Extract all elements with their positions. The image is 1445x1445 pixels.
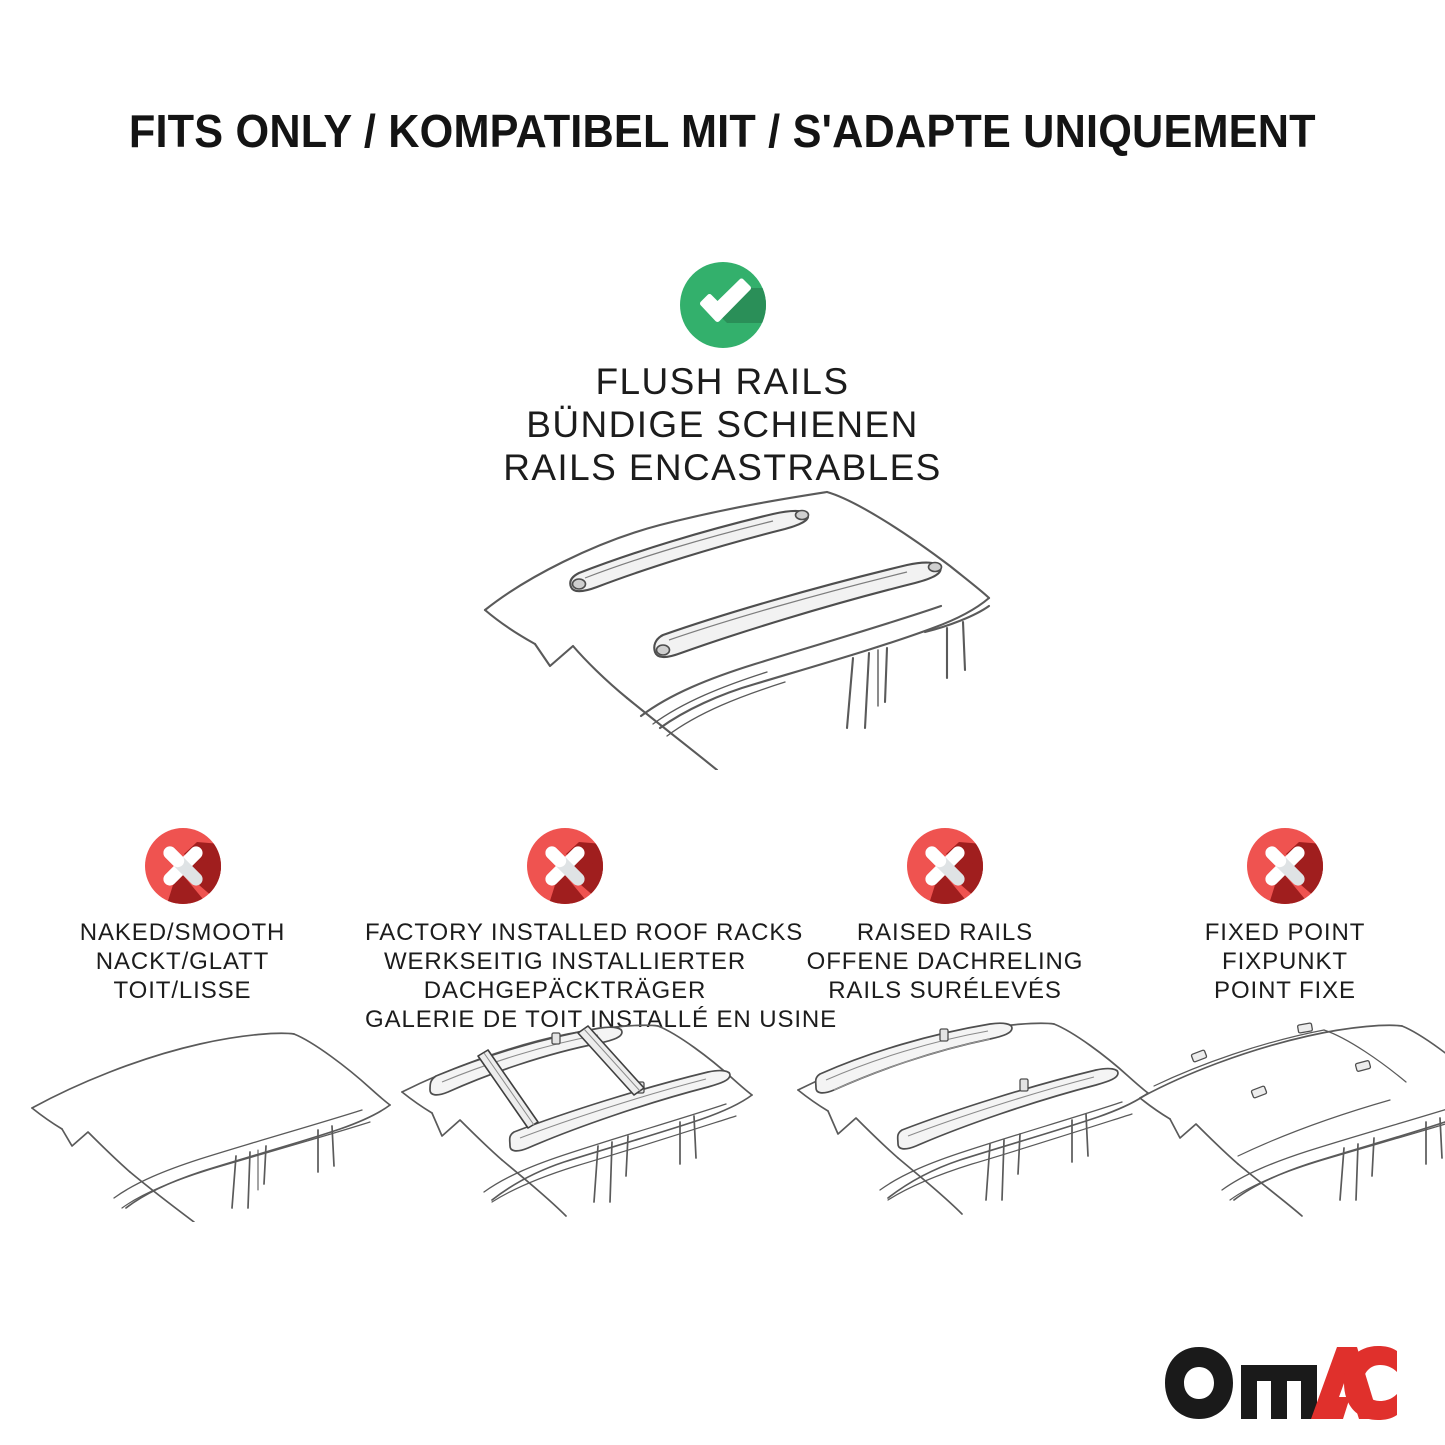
incompatible-label-de: FIXPUNKT bbox=[1125, 947, 1445, 976]
compatible-section: FLUSH RAILS BÜNDIGE SCHIENEN RAILS ENCAS… bbox=[0, 262, 1445, 489]
car-roof-with-flush-rails-sketch bbox=[455, 470, 1015, 770]
compatible-label-en: FLUSH RAILS bbox=[0, 360, 1445, 403]
page-title-text: FITS ONLY / KOMPATIBEL MIT / S'ADAPTE UN… bbox=[129, 104, 1316, 158]
car-roof-factory-roof-rack-sketch bbox=[392, 1012, 782, 1222]
omac-logo bbox=[1161, 1345, 1401, 1421]
red-x-circle-icon bbox=[145, 828, 221, 904]
incompatible-item-fixed-point: FIXED POINT FIXPUNKT POINT FIXE bbox=[1125, 828, 1445, 1034]
incompatible-label-fr: RAILS SURÉLEVÉS bbox=[765, 976, 1125, 1005]
compatible-label-de: BÜNDIGE SCHIENEN bbox=[0, 403, 1445, 446]
logo-letter-o bbox=[1165, 1347, 1233, 1419]
green-check-circle-icon bbox=[680, 262, 766, 348]
car-roof-raised-rails-sketch bbox=[790, 1012, 1180, 1222]
incompatible-labels: RAISED RAILS OFFENE DACHRELING RAILS SUR… bbox=[765, 918, 1125, 1005]
incompatible-label-de: OFFENE DACHRELING bbox=[765, 947, 1125, 976]
car-roof-naked-smooth-sketch bbox=[18, 1012, 408, 1222]
incompatible-labels: NAKED/SMOOTH NACKT/GLATT TOIT/LISSE bbox=[0, 918, 365, 1005]
red-x-circle-icon bbox=[527, 828, 603, 904]
incompatible-label-en: FIXED POINT bbox=[1125, 918, 1445, 947]
incompatible-label-en: NAKED/SMOOTH bbox=[0, 918, 365, 947]
incompatible-item-raised-rails: RAISED RAILS OFFENE DACHRELING RAILS SUR… bbox=[765, 828, 1125, 1034]
incompatible-label-fr: TOIT/LISSE bbox=[0, 976, 365, 1005]
incompatible-item-factory-roof-racks: FACTORY INSTALLED ROOF RACKS WERKSEITIG … bbox=[365, 828, 765, 1034]
check-mark-glyph bbox=[680, 262, 766, 348]
flush-rail-far bbox=[570, 511, 808, 592]
incompatible-section: NAKED/SMOOTH NACKT/GLATT TOIT/LISSE FACT… bbox=[0, 828, 1445, 1034]
flush-rail-near bbox=[654, 563, 941, 658]
x-cross-glyph bbox=[1247, 828, 1323, 904]
incompatible-label-en: FACTORY INSTALLED ROOF RACKS bbox=[365, 918, 765, 947]
roof-type-illustrations bbox=[0, 1012, 1445, 1222]
page-title: FITS ONLY / KOMPATIBEL MIT / S'ADAPTE UN… bbox=[0, 104, 1445, 158]
incompatible-label-de-1: WERKSEITIG INSTALLIERTER bbox=[365, 947, 765, 976]
incompatible-labels: FIXED POINT FIXPUNKT POINT FIXE bbox=[1125, 918, 1445, 1005]
logo-letter-m bbox=[1241, 1365, 1317, 1419]
x-cross-glyph bbox=[145, 828, 221, 904]
car-roof-fixed-point-sketch bbox=[1130, 1012, 1445, 1222]
incompatible-label-fr: POINT FIXE bbox=[1125, 976, 1445, 1005]
red-x-circle-icon bbox=[1247, 828, 1323, 904]
incompatible-label-en: RAISED RAILS bbox=[765, 918, 1125, 947]
red-x-circle-icon bbox=[907, 828, 983, 904]
x-cross-glyph bbox=[527, 828, 603, 904]
incompatible-label-de-2: DACHGEPÄCKTRÄGER bbox=[365, 976, 765, 1005]
incompatible-label-de: NACKT/GLATT bbox=[0, 947, 365, 976]
incompatible-item-naked-smooth: NAKED/SMOOTH NACKT/GLATT TOIT/LISSE bbox=[0, 828, 365, 1034]
x-cross-glyph bbox=[907, 828, 983, 904]
